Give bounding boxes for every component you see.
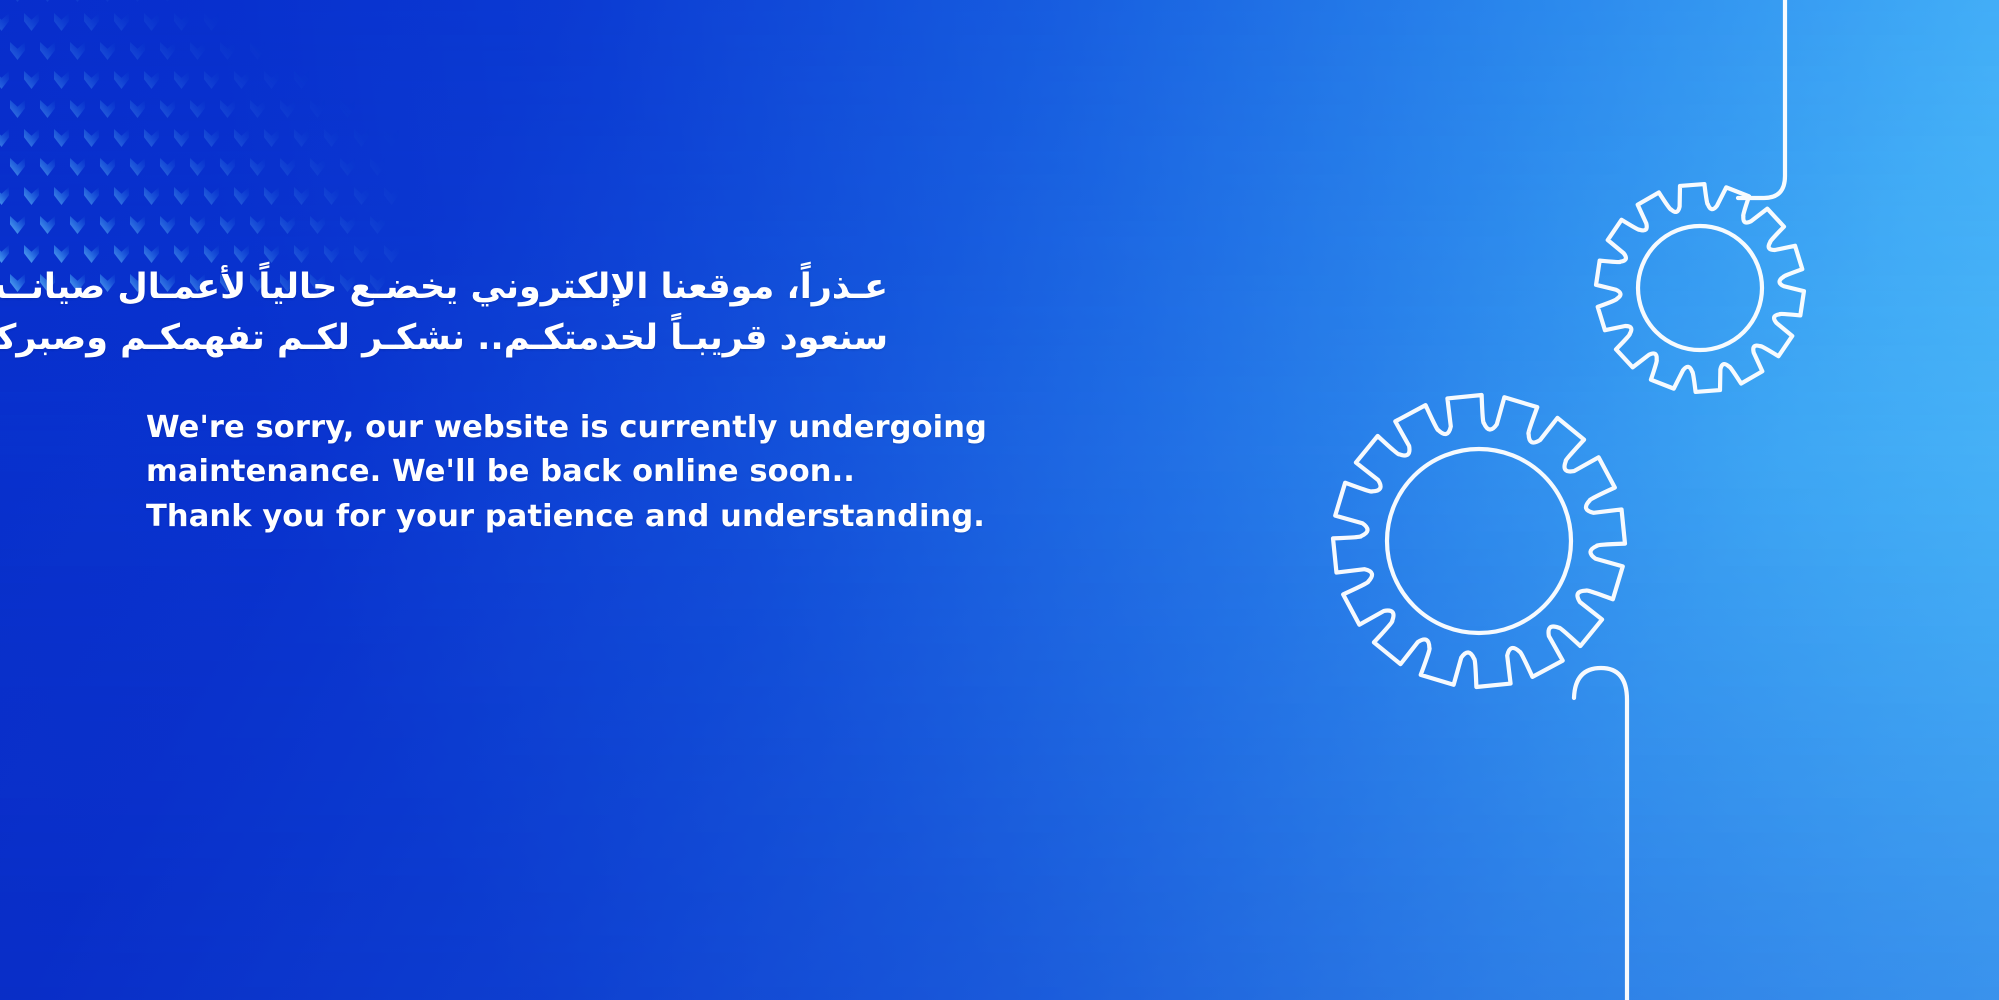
maintenance-page: عـذراً، موقعنا الإلكتروني يخضـع حالياً ل… xyxy=(0,0,1999,1000)
english-message: We're sorry, our website is currently un… xyxy=(146,406,1126,539)
arabic-line-1: عـذراً، موقعنا الإلكتروني يخضـع حالياً ل… xyxy=(146,262,888,313)
english-line-3: Thank you for your patience and understa… xyxy=(146,495,1126,539)
message-block: عـذراً، موقعنا الإلكتروني يخضـع حالياً ل… xyxy=(146,262,1126,539)
arabic-message: عـذراً، موقعنا الإلكتروني يخضـع حالياً ل… xyxy=(146,262,888,364)
english-line-1: We're sorry, our website is currently un… xyxy=(146,406,1126,450)
arabic-line-2: سنعود قريبـاً لخدمتكـم.. نشكـر لكـم تفهم… xyxy=(146,313,888,364)
english-line-2: maintenance. We'll be back online soon.. xyxy=(146,450,1126,494)
